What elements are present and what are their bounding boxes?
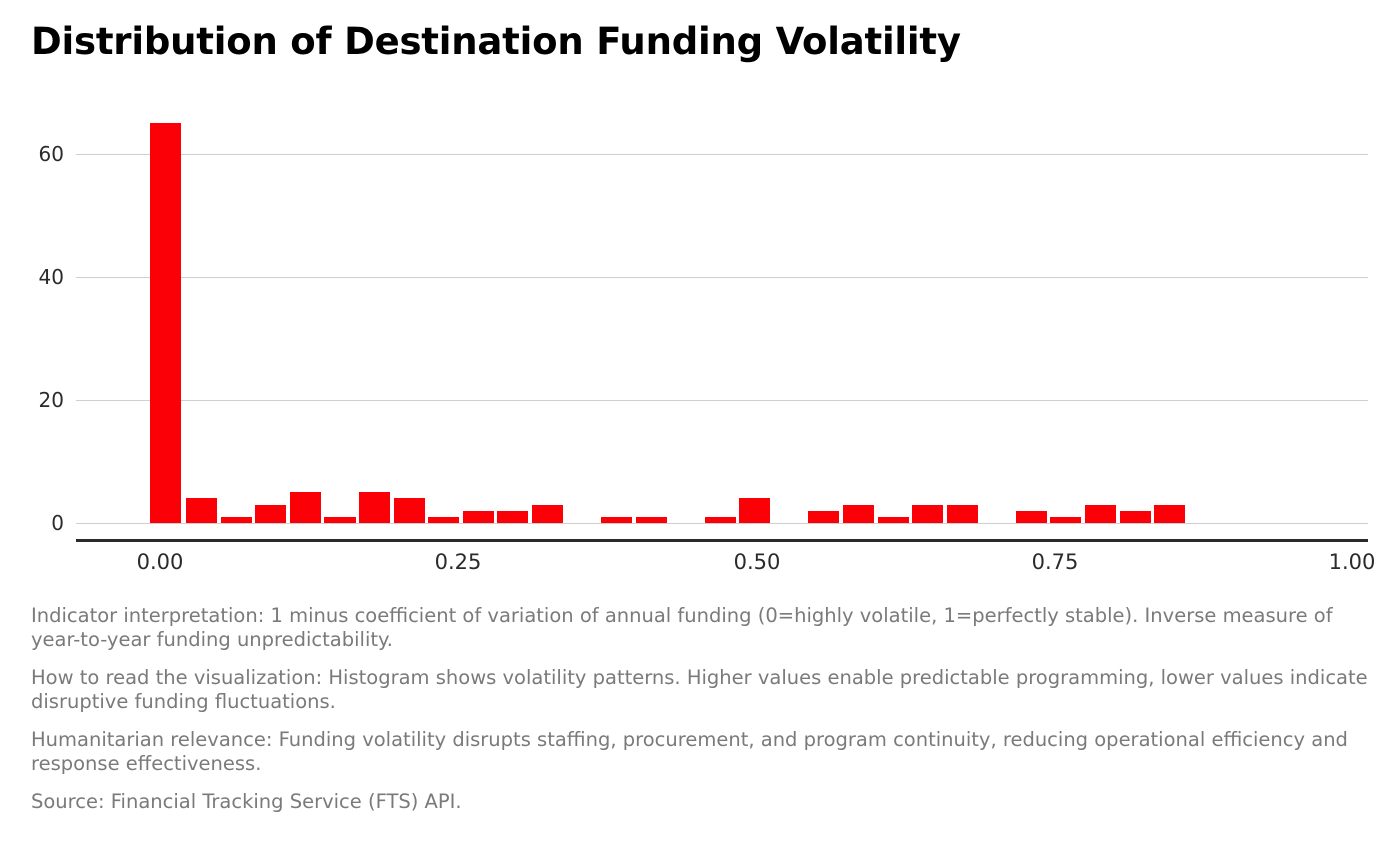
histogram-bar <box>186 498 217 523</box>
caption-source: Source: Financial Tracking Service (FTS)… <box>31 790 1371 814</box>
xtick-label-4: 1.00 <box>1329 550 1376 574</box>
histogram-bar <box>324 517 355 523</box>
histogram-bar <box>1154 505 1185 523</box>
histogram-bar <box>1016 511 1047 523</box>
histogram-bar <box>808 511 839 523</box>
histogram-bar <box>739 498 770 523</box>
histogram-bar <box>532 505 563 523</box>
histogram-bar <box>255 505 286 523</box>
x-axis-line <box>76 539 1368 542</box>
histogram-bar <box>150 123 181 523</box>
histogram-bar <box>878 517 909 523</box>
caption-humanitarian-relevance: Humanitarian relevance: Funding volatili… <box>31 728 1371 776</box>
histogram-bar <box>1085 505 1116 523</box>
histogram-bar <box>497 511 528 523</box>
histogram-bar <box>290 492 321 523</box>
histogram-bar <box>463 511 494 523</box>
caption-how-to-read: How to read the visualization: Histogram… <box>31 666 1371 714</box>
histogram-bar <box>428 517 459 523</box>
xtick-label-0: 0.00 <box>137 550 184 574</box>
histogram-bar <box>1120 511 1151 523</box>
chart-page: Distribution of Destination Funding Vola… <box>0 0 1400 865</box>
bars-layer <box>0 0 1400 600</box>
histogram-bar <box>1050 517 1081 523</box>
histogram-bar <box>636 517 667 523</box>
histogram-bar <box>221 517 252 523</box>
caption-group: Indicator interpretation: 1 minus coeffi… <box>31 604 1371 814</box>
histogram-bar <box>359 492 390 523</box>
plot-area: 60 40 20 0 0.00 0.25 0.50 0.75 1.00 <box>0 0 1400 600</box>
histogram-bar <box>394 498 425 523</box>
xtick-label-2: 0.50 <box>734 550 781 574</box>
histogram-bar <box>912 505 943 523</box>
histogram-bar <box>947 505 978 523</box>
histogram-bar <box>601 517 632 523</box>
xtick-label-3: 0.75 <box>1032 550 1079 574</box>
histogram-bar <box>705 517 736 523</box>
histogram-bar <box>843 505 874 523</box>
caption-indicator-interpretation: Indicator interpretation: 1 minus coeffi… <box>31 604 1371 652</box>
xtick-label-1: 0.25 <box>435 550 482 574</box>
